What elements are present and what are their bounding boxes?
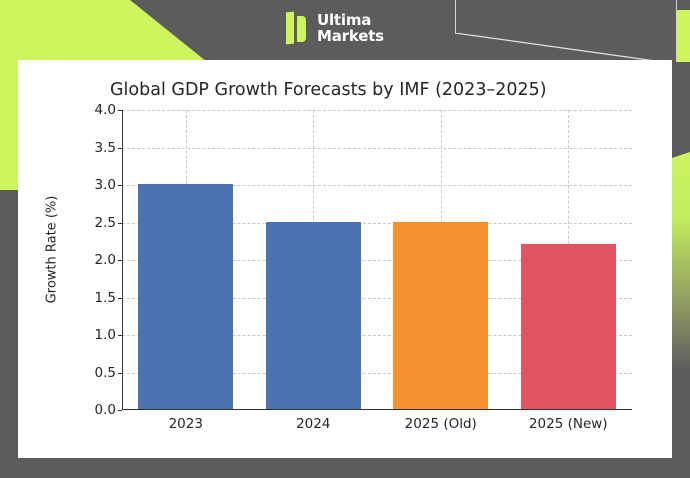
brand-logo: Ultima Markets [286,12,384,44]
y-axis-label: Growth Rate (%) [45,150,60,350]
y-tick-label: 4.0 [95,102,116,118]
decorative-vertical-line [455,0,456,34]
chart-card: Global GDP Growth Forecasts by IMF (2023… [18,60,672,458]
chart-title: Global GDP Growth Forecasts by IMF (2023… [110,80,672,100]
bar-2023[interactable] [138,184,233,409]
y-tick-label: 1.0 [95,327,116,343]
y-tick-label: 0.0 [95,402,116,418]
ultima-logo-mark-icon [286,12,308,44]
y-tick-mark [118,410,122,411]
gridline-horizontal [122,148,632,149]
x-tick-label: 2025 (Old) [405,416,477,432]
plot-area: 0.00.51.01.52.02.53.03.54.0 202320242025… [122,110,632,410]
y-axis-spine [122,110,123,410]
brand-name-line1: Ultima [317,12,384,28]
y-tick-label: 2.5 [95,215,116,231]
y-tick-label: 3.5 [95,140,116,156]
y-tick-label: 2.0 [95,252,116,268]
y-tick-label: 1.5 [95,290,116,306]
bar-2025-old[interactable] [393,222,488,410]
x-tick-label: 2024 [296,416,330,432]
green-accent-right-gradient [672,152,690,370]
bar-2024[interactable] [266,222,361,410]
slide-canvas: Ultima Markets Global GDP Growth Forecas… [0,0,690,478]
brand-name-line2: Markets [317,28,384,44]
y-tick-label: 3.0 [95,177,116,193]
bar-chart: Global GDP Growth Forecasts by IMF (2023… [18,60,672,458]
bar-2025-new[interactable] [521,244,616,409]
y-tick-label: 0.5 [95,365,116,381]
brand-name: Ultima Markets [317,12,384,44]
green-accent-right-tab [676,10,690,62]
gridline-horizontal [122,110,632,111]
x-tick-label: 2025 (New) [529,416,608,432]
x-axis-spine [122,409,632,410]
decorative-vertical-line-right [676,0,677,62]
x-tick-label: 2023 [169,416,203,432]
